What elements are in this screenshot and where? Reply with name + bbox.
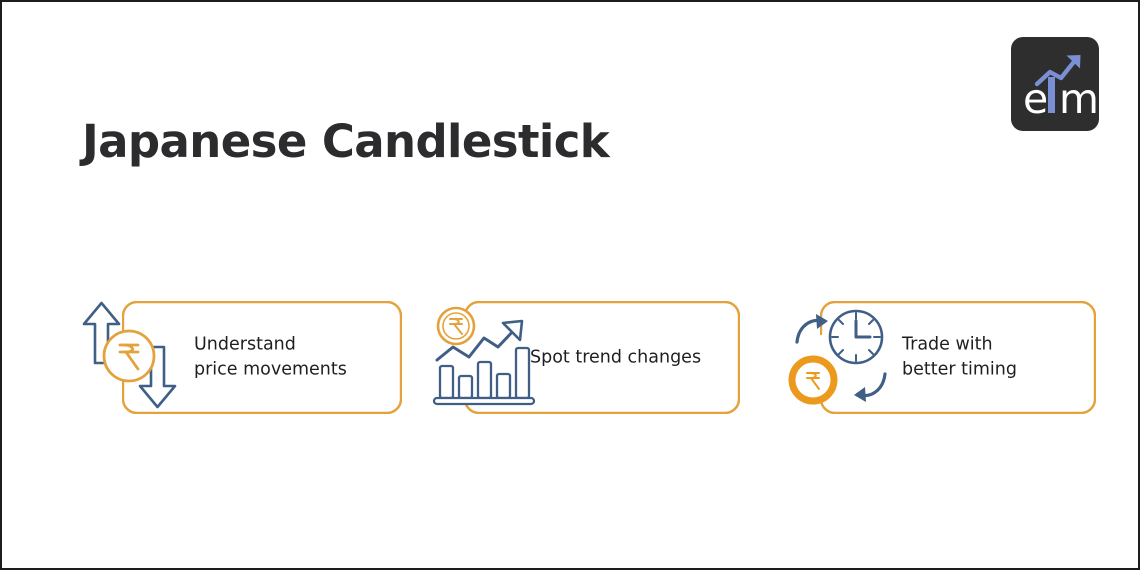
price-movement-arrows-rupee-icon bbox=[74, 297, 194, 419]
cycle-arrow-head-bottom-icon bbox=[854, 387, 866, 402]
elm-logo[interactable]: e m bbox=[1011, 37, 1099, 131]
card-label: Understand price movements bbox=[194, 332, 347, 383]
rupee-coin-icon bbox=[438, 308, 474, 344]
card-trade-with-better-timing[interactable]: Trade with better timing bbox=[820, 301, 1096, 414]
rupee-coin-icon bbox=[104, 331, 154, 381]
svg-text:e: e bbox=[1023, 75, 1048, 123]
bar-chart-trend-rupee-icon bbox=[428, 304, 534, 412]
cycle-arrow-head-top-icon bbox=[816, 314, 828, 329]
clock-cycle-rupee-icon bbox=[784, 304, 894, 412]
page-title: Japanese Candlestick bbox=[82, 115, 609, 168]
logo-wordmark: e m bbox=[1023, 75, 1099, 123]
svg-text:m: m bbox=[1059, 75, 1099, 123]
slide-canvas: e m Japanese Candlestick bbox=[0, 0, 1140, 570]
card-spot-trend-changes[interactable]: Spot trend changes bbox=[464, 301, 740, 414]
card-understand-price-movements[interactable]: Understand price movements bbox=[122, 301, 402, 414]
rupee-coin-icon bbox=[792, 359, 834, 401]
card-label: Trade with better timing bbox=[902, 332, 1017, 383]
clock-icon bbox=[830, 311, 882, 363]
bar-chart-icon bbox=[440, 348, 529, 398]
chart-baseline bbox=[434, 398, 534, 404]
card-label: Spot trend changes bbox=[530, 345, 701, 370]
